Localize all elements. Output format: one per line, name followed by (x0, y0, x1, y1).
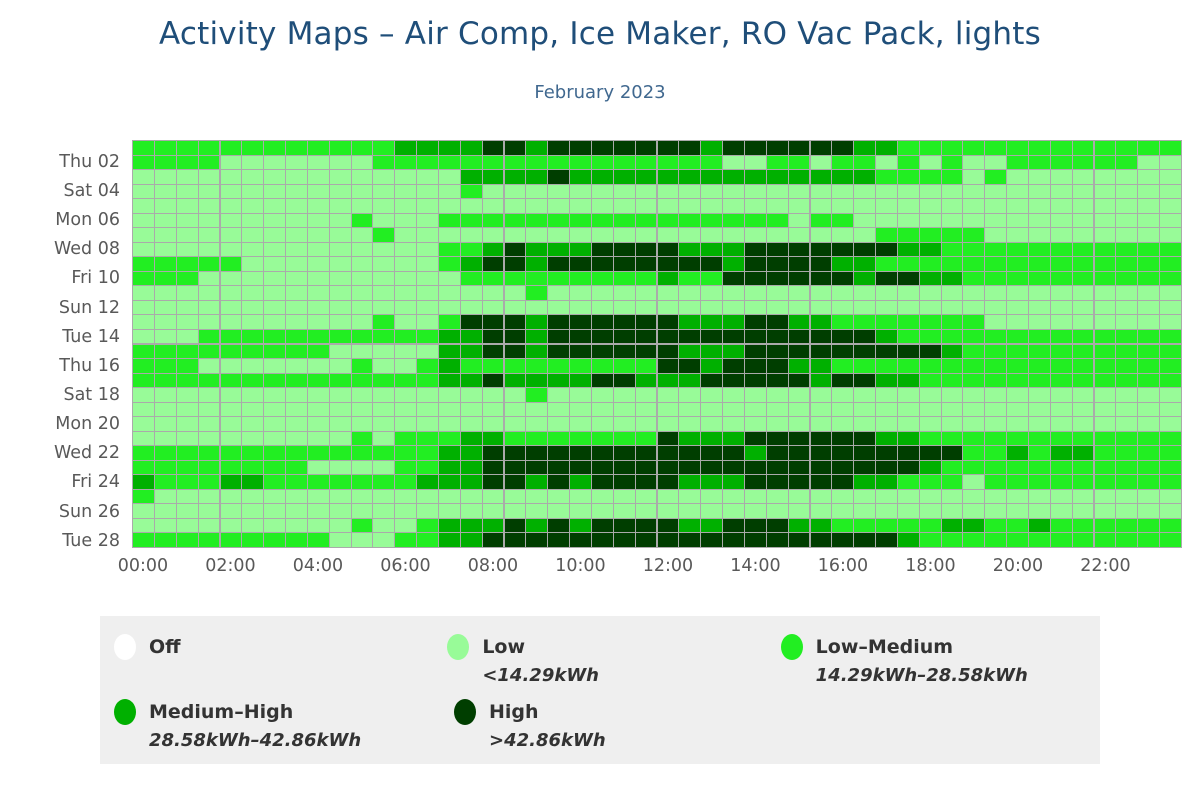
heatmap-cell (679, 475, 700, 488)
heatmap-cell (614, 199, 635, 212)
heatmap-cell (811, 199, 832, 212)
heatmap-cell (920, 374, 941, 387)
heatmap-cell (264, 388, 285, 401)
heatmap-cell (286, 519, 307, 532)
heatmap-cell (1095, 156, 1116, 169)
heatmap-cell (679, 199, 700, 212)
y-axis-tick-label: Wed 08 (54, 239, 120, 259)
legend-item[interactable]: Low<14.29kWh (433, 630, 766, 695)
heatmap-cell (570, 301, 591, 314)
heatmap-cell (199, 170, 220, 183)
heatmap-cell (461, 504, 482, 517)
heatmap-cell (963, 286, 984, 299)
heatmap-cell (658, 257, 679, 270)
x-axis-tick-label: 06:00 (380, 556, 430, 576)
heatmap-cell (963, 432, 984, 445)
heatmap-cell (942, 286, 963, 299)
heatmap-cell (526, 388, 547, 401)
heatmap-cell (352, 286, 373, 299)
heatmap-cell (876, 403, 897, 416)
heatmap-cell (483, 272, 504, 285)
heatmap-cell (985, 286, 1006, 299)
heatmap-cell (417, 345, 438, 358)
heatmap-cell (417, 519, 438, 532)
heatmap-grid (132, 140, 1182, 548)
heatmap-cell (723, 475, 744, 488)
heatmap-cell (1160, 403, 1181, 416)
heatmap-cell (155, 214, 176, 227)
heatmap-cell (1138, 141, 1159, 154)
heatmap-cell (767, 432, 788, 445)
heatmap-cell (286, 257, 307, 270)
heatmap-cell (1160, 243, 1181, 256)
heatmap-cell (395, 141, 416, 154)
heatmap-cell (679, 388, 700, 401)
heatmap-cell (1138, 374, 1159, 387)
heatmap-cell (264, 432, 285, 445)
heatmap-cell (811, 141, 832, 154)
heatmap-cell (658, 403, 679, 416)
heatmap-cell (963, 301, 984, 314)
heatmap-cell (373, 446, 394, 459)
heatmap-cell (876, 359, 897, 372)
heatmap-cell (483, 301, 504, 314)
heatmap-cell (745, 286, 766, 299)
heatmap-cell (767, 403, 788, 416)
heatmap-cell (679, 315, 700, 328)
heatmap-cell (920, 388, 941, 401)
heatmap-cell (592, 170, 613, 183)
heatmap-cell (1116, 156, 1137, 169)
heatmap-cell (745, 504, 766, 517)
heatmap-cell (679, 286, 700, 299)
heatmap-cell (308, 533, 329, 546)
heatmap-cell (199, 330, 220, 343)
heatmap-cell (832, 345, 853, 358)
heatmap-cell (789, 315, 810, 328)
heatmap-cell (199, 185, 220, 198)
heatmap-cell (1160, 533, 1181, 546)
heatmap-cell (767, 214, 788, 227)
heatmap-cell (942, 388, 963, 401)
heatmap-cell (133, 403, 154, 416)
heatmap-cell (942, 156, 963, 169)
heatmap-cell (330, 243, 351, 256)
heatmap-cell (505, 301, 526, 314)
heatmap-cell (789, 461, 810, 474)
legend-item[interactable]: Medium–High28.58kWh–42.86kWh (100, 695, 440, 760)
heatmap-cell (854, 519, 875, 532)
heatmap-cell (701, 286, 722, 299)
heatmap-cell (1116, 403, 1137, 416)
heatmap-cell (920, 490, 941, 503)
heatmap-cell (1073, 214, 1094, 227)
heatmap-cell (505, 519, 526, 532)
heatmap-cell (963, 257, 984, 270)
heatmap-cell (1029, 345, 1050, 358)
heatmap-cell (221, 199, 242, 212)
heatmap-cell (745, 301, 766, 314)
heatmap-cell (1007, 403, 1028, 416)
heatmap-cell (1095, 170, 1116, 183)
heatmap-cell (264, 272, 285, 285)
heatmap-cell (505, 156, 526, 169)
heatmap-cell (570, 359, 591, 372)
heatmap-cell (679, 504, 700, 517)
heatmap-cell (1007, 141, 1028, 154)
heatmap-cell (308, 475, 329, 488)
heatmap-cell (242, 170, 263, 183)
heatmap-cell (483, 185, 504, 198)
heatmap-cell (395, 475, 416, 488)
heatmap-plot[interactable] (132, 140, 1182, 548)
heatmap-cell (548, 461, 569, 474)
heatmap-cell (242, 446, 263, 459)
heatmap-cell (395, 519, 416, 532)
heatmap-cell (483, 141, 504, 154)
heatmap-cell (526, 403, 547, 416)
heatmap-cell (483, 417, 504, 430)
heatmap-cell (854, 432, 875, 445)
heatmap-cell (155, 446, 176, 459)
heatmap-cell (876, 243, 897, 256)
heatmap-cell (963, 403, 984, 416)
heatmap-cell (526, 330, 547, 343)
heatmap-cell (701, 315, 722, 328)
heatmap-cell (789, 301, 810, 314)
heatmap-cell (177, 519, 198, 532)
heatmap-cell (483, 475, 504, 488)
heatmap-cell (133, 199, 154, 212)
heatmap-cell (242, 156, 263, 169)
heatmap-cell (636, 228, 657, 241)
heatmap-cell (505, 403, 526, 416)
heatmap-cell (876, 330, 897, 343)
heatmap-cell (1007, 156, 1028, 169)
heatmap-cell (570, 330, 591, 343)
legend-swatch-circle-icon (454, 699, 476, 725)
heatmap-cell (133, 446, 154, 459)
heatmap-cell (330, 170, 351, 183)
heatmap-cell (1029, 199, 1050, 212)
legend-item-range: <14.29kWh (482, 665, 766, 695)
heatmap-cell (352, 315, 373, 328)
heatmap-cell (570, 257, 591, 270)
heatmap-cell (177, 199, 198, 212)
heatmap-cell (439, 156, 460, 169)
heatmap-cell (985, 345, 1006, 358)
heatmap-cell (745, 330, 766, 343)
heatmap-cell (636, 345, 657, 358)
legend-item-label: Low (482, 636, 525, 658)
heatmap-cell (286, 504, 307, 517)
heatmap-cell (767, 315, 788, 328)
heatmap-cell (155, 374, 176, 387)
heatmap-cell (1073, 199, 1094, 212)
heatmap-cell (308, 490, 329, 503)
heatmap-cell (1138, 243, 1159, 256)
heatmap-cell (745, 315, 766, 328)
heatmap-cell (832, 185, 853, 198)
heatmap-cell (439, 315, 460, 328)
heatmap-cell (439, 519, 460, 532)
heatmap-cell (679, 446, 700, 459)
heatmap-cell (1138, 214, 1159, 227)
heatmap-cell (854, 359, 875, 372)
legend-row: Medium–High28.58kWh–42.86kWhHigh>42.86kW… (100, 695, 1100, 760)
heatmap-cell (767, 141, 788, 154)
heatmap-cell (548, 301, 569, 314)
heatmap-cell (767, 533, 788, 546)
heatmap-cell (461, 461, 482, 474)
heatmap-cell (308, 214, 329, 227)
heatmap-cell (1073, 490, 1094, 503)
heatmap-cell (199, 156, 220, 169)
heatmap-cell (789, 504, 810, 517)
heatmap-cell (570, 504, 591, 517)
heatmap-cell (177, 490, 198, 503)
heatmap-cell (1029, 533, 1050, 546)
heatmap-cell (395, 214, 416, 227)
heatmap-cell (483, 330, 504, 343)
heatmap-cell (505, 214, 526, 227)
heatmap-cell (1051, 446, 1072, 459)
heatmap-cell (1051, 243, 1072, 256)
heatmap-cell (832, 533, 853, 546)
heatmap-cell (1095, 272, 1116, 285)
heatmap-cell (832, 156, 853, 169)
heatmap-cell (1051, 257, 1072, 270)
heatmap-cell (352, 475, 373, 488)
heatmap-cell (614, 301, 635, 314)
heatmap-cell (1116, 185, 1137, 198)
heatmap-cell (133, 214, 154, 227)
heatmap-cell (330, 388, 351, 401)
heatmap-cell (308, 315, 329, 328)
heatmap-cell (876, 432, 897, 445)
heatmap-cell (920, 519, 941, 532)
heatmap-cell (483, 315, 504, 328)
legend-item[interactable]: High>42.86kWh (440, 695, 780, 760)
heatmap-cell (614, 417, 635, 430)
heatmap-cell (1007, 417, 1028, 430)
heatmap-cell (395, 272, 416, 285)
heatmap-cell (592, 199, 613, 212)
heatmap-cell (898, 388, 919, 401)
heatmap-cell (439, 504, 460, 517)
heatmap-cell (592, 417, 613, 430)
heatmap-cell (439, 461, 460, 474)
heatmap-cell (330, 257, 351, 270)
heatmap-cell (133, 432, 154, 445)
heatmap-cell (286, 359, 307, 372)
heatmap-cell (1160, 417, 1181, 430)
heatmap-cell (570, 185, 591, 198)
legend-item[interactable]: Off (100, 630, 433, 695)
heatmap-cell (177, 315, 198, 328)
heatmap-cell (723, 519, 744, 532)
heatmap-cell (898, 403, 919, 416)
heatmap-cell (308, 330, 329, 343)
heatmap-cell (1138, 345, 1159, 358)
heatmap-cell (832, 286, 853, 299)
heatmap-cell (526, 475, 547, 488)
heatmap-cell (242, 359, 263, 372)
heatmap-cell (1116, 286, 1137, 299)
heatmap-cell (614, 432, 635, 445)
heatmap-cell (548, 432, 569, 445)
heatmap-cell (1029, 214, 1050, 227)
heatmap-cell (352, 345, 373, 358)
heatmap-cell (876, 156, 897, 169)
heatmap-cell (1138, 417, 1159, 430)
heatmap-cell (483, 345, 504, 358)
heatmap-cell (1073, 185, 1094, 198)
heatmap-cell (854, 141, 875, 154)
y-axis-tick-label: Tue 28 (62, 531, 120, 551)
heatmap-cell (177, 214, 198, 227)
heatmap-cell (308, 141, 329, 154)
heatmap-cell (548, 533, 569, 546)
heatmap-cell (658, 214, 679, 227)
heatmap-cell (505, 286, 526, 299)
heatmap-cell (352, 170, 373, 183)
heatmap-cell (592, 490, 613, 503)
heatmap-cell (1138, 490, 1159, 503)
heatmap-cell (177, 533, 198, 546)
heatmap-cell (832, 315, 853, 328)
heatmap-cell (483, 156, 504, 169)
heatmap-cell (242, 504, 263, 517)
heatmap-cell (942, 417, 963, 430)
heatmap-cell (767, 446, 788, 459)
heatmap-cell (1095, 199, 1116, 212)
heatmap-cell (330, 417, 351, 430)
heatmap-cell (679, 330, 700, 343)
heatmap-cell (963, 388, 984, 401)
heatmap-cell (1051, 461, 1072, 474)
heatmap-cell (876, 345, 897, 358)
heatmap-cell (1073, 315, 1094, 328)
heatmap-cell (221, 301, 242, 314)
heatmap-cell (636, 170, 657, 183)
heatmap-cell (286, 475, 307, 488)
heatmap-cell (199, 214, 220, 227)
heatmap-cell (701, 432, 722, 445)
heatmap-cell (264, 446, 285, 459)
heatmap-cell (898, 446, 919, 459)
heatmap-cell (658, 461, 679, 474)
heatmap-cell (373, 185, 394, 198)
heatmap-cell (1116, 388, 1137, 401)
heatmap-cell (483, 170, 504, 183)
heatmap-cell (417, 417, 438, 430)
heatmap-cell (439, 533, 460, 546)
heatmap-cell (789, 359, 810, 372)
heatmap-cell (701, 519, 722, 532)
heatmap-cell (177, 417, 198, 430)
heatmap-cell (417, 243, 438, 256)
heatmap-cell (1029, 461, 1050, 474)
heatmap-cell (811, 185, 832, 198)
heatmap-cell (811, 533, 832, 546)
heatmap-cell (832, 475, 853, 488)
heatmap-cell (1138, 504, 1159, 517)
heatmap-cell (395, 170, 416, 183)
heatmap-cell (811, 315, 832, 328)
heatmap-cell (592, 330, 613, 343)
heatmap-cell (221, 490, 242, 503)
heatmap-cell (614, 446, 635, 459)
heatmap-cell (242, 461, 263, 474)
heatmap-cell (942, 403, 963, 416)
heatmap-cell (963, 141, 984, 154)
heatmap-cell (876, 301, 897, 314)
heatmap-cell (264, 214, 285, 227)
heatmap-cell (352, 301, 373, 314)
heatmap-cell (985, 156, 1006, 169)
heatmap-cell (395, 403, 416, 416)
heatmap-cell (854, 301, 875, 314)
heatmap-cell (679, 345, 700, 358)
heatmap-cell (876, 315, 897, 328)
heatmap-cell (570, 388, 591, 401)
legend-item[interactable]: Low–Medium14.29kWh–28.58kWh (767, 630, 1100, 695)
heatmap-cell (286, 315, 307, 328)
heatmap-cell (920, 141, 941, 154)
heatmap-cell (767, 257, 788, 270)
heatmap-cell (264, 228, 285, 241)
heatmap-cell (373, 257, 394, 270)
heatmap-cell (308, 243, 329, 256)
heatmap-cell (439, 432, 460, 445)
heatmap-cell (789, 519, 810, 532)
heatmap-cell (985, 475, 1006, 488)
heatmap-cell (286, 272, 307, 285)
heatmap-cell (330, 141, 351, 154)
heatmap-cell (985, 504, 1006, 517)
heatmap-cell (789, 345, 810, 358)
heatmap-cell (942, 461, 963, 474)
heatmap-cell (1095, 243, 1116, 256)
heatmap-cell (177, 475, 198, 488)
heatmap-cell (876, 199, 897, 212)
heatmap-cell (985, 257, 1006, 270)
heatmap-cell (526, 446, 547, 459)
heatmap-cell (483, 388, 504, 401)
heatmap-cell (832, 374, 853, 387)
heatmap-cell (417, 170, 438, 183)
heatmap-cell (264, 359, 285, 372)
heatmap-cell (1073, 504, 1094, 517)
heatmap-cell (1073, 330, 1094, 343)
heatmap-cell (985, 374, 1006, 387)
heatmap-cell (1029, 272, 1050, 285)
heatmap-cell (133, 141, 154, 154)
heatmap-cell (133, 345, 154, 358)
heatmap-cell (483, 490, 504, 503)
heatmap-cell (1095, 417, 1116, 430)
heatmap-cell (1160, 170, 1181, 183)
heatmap-cell (1007, 199, 1028, 212)
heatmap-cell (199, 374, 220, 387)
heatmap-cell (1116, 228, 1137, 241)
heatmap-cell (133, 315, 154, 328)
heatmap-cell (1007, 432, 1028, 445)
heatmap-cell (395, 315, 416, 328)
heatmap-cell (1007, 504, 1028, 517)
heatmap-cell (330, 156, 351, 169)
